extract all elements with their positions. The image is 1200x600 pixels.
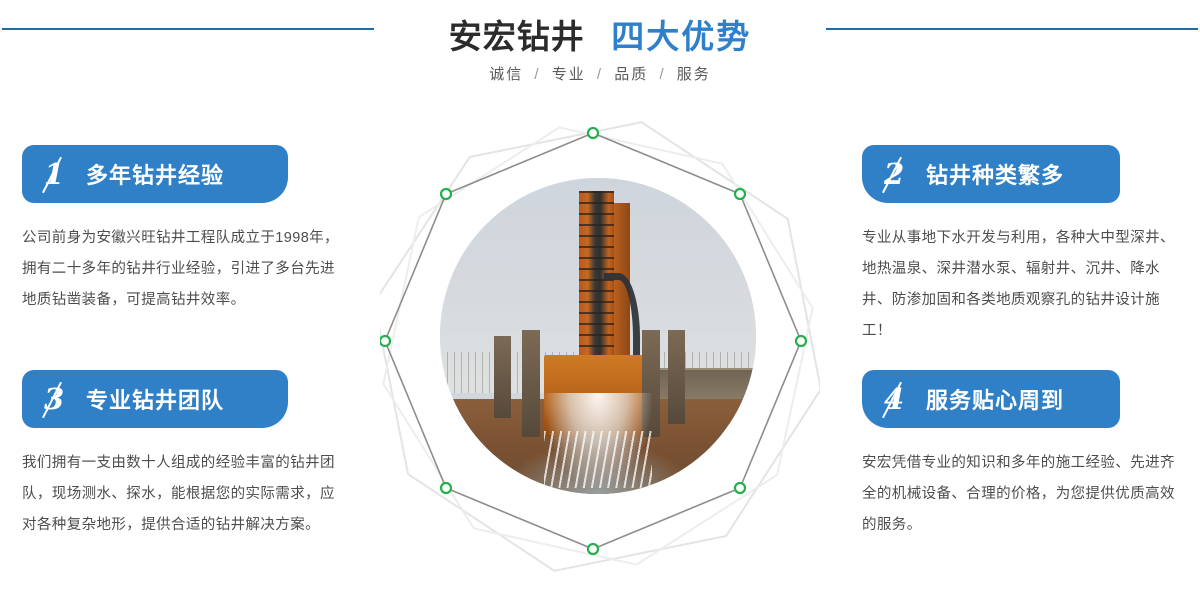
subtitle-item-1: 专业 — [552, 66, 586, 83]
advantage-number-1: 1 — [44, 160, 78, 189]
center-graphic — [380, 110, 820, 590]
photo-water-gush — [544, 393, 651, 488]
advantage-card-2[interactable]: 2 钻井种类繁多 专业从事地下水开发与利用，各种大中型深井、地热温泉、深井潜水泵… — [862, 145, 1192, 347]
ring-node-bottom — [588, 544, 598, 554]
photo-support-leg-4 — [668, 330, 685, 425]
advantage-badge-4[interactable]: 4 服务贴心周到 — [862, 370, 1120, 428]
subtitle-item-3: 服务 — [677, 66, 711, 83]
advantage-body-4: 安宏凭借专业的知识和多年的施工经验、先进齐全的机械设备、合理的价格，为您提供优质… — [862, 448, 1180, 541]
advantage-title-1: 多年钻井经验 — [86, 158, 224, 190]
page-subtitle: 诚信 / 专业 / 品质 / 服务 — [0, 63, 1200, 84]
subtitle-separator-2: / — [659, 66, 665, 83]
page-title-accent: 四大优势 — [611, 18, 751, 55]
ring-node-top — [588, 128, 598, 138]
advantage-card-3[interactable]: 3 专业钻井团队 我们拥有一支由数十人组成的经验丰富的钻井团队，现场测水、探水，… — [22, 370, 352, 541]
advantage-title-4: 服务贴心周到 — [926, 383, 1064, 415]
photo-support-leg-1 — [494, 336, 511, 418]
ring-node-left — [380, 336, 390, 346]
subtitle-separator-0: / — [534, 66, 540, 83]
advantage-number-2: 2 — [884, 160, 918, 189]
ring-node-right — [796, 336, 806, 346]
advantage-title-3: 专业钻井团队 — [86, 383, 224, 415]
advantage-badge-2[interactable]: 2 钻井种类繁多 — [862, 145, 1120, 203]
page-title: 安宏钻井 四大优势 — [0, 10, 1200, 58]
subtitle-separator-1: / — [597, 66, 603, 83]
advantage-card-1[interactable]: 1 多年钻井经验 公司前身为安徽兴旺钻井工程队成立于1998年，拥有二十多年的钻… — [22, 145, 352, 316]
advantage-body-3: 我们拥有一支由数十人组成的经验丰富的钻井团队，现场测水、探水，能根据您的实际需求… — [22, 448, 340, 541]
subtitle-item-2: 品质 — [614, 66, 648, 83]
page-header: 安宏钻井 四大优势 诚信 / 专业 / 品质 / 服务 — [0, 0, 1200, 110]
page-title-main: 安宏钻井 — [449, 18, 585, 55]
advantage-card-4[interactable]: 4 服务贴心周到 安宏凭借专业的知识和多年的施工经验、先进齐全的机械设备、合理的… — [862, 370, 1192, 541]
advantage-badge-3[interactable]: 3 专业钻井团队 — [22, 370, 288, 428]
advantage-title-2: 钻井种类繁多 — [926, 158, 1064, 190]
advantage-number-3: 3 — [44, 385, 78, 414]
subtitle-item-0: 诚信 — [489, 66, 523, 83]
drilling-rig-photo — [440, 178, 756, 494]
advantage-body-2: 专业从事地下水开发与利用，各种大中型深井、地热温泉、深井潜水泵、辐射井、沉井、降… — [862, 223, 1180, 347]
advantage-number-4: 4 — [884, 385, 918, 414]
photo-support-leg-2 — [522, 330, 539, 437]
advantage-badge-1[interactable]: 1 多年钻井经验 — [22, 145, 288, 203]
advantage-body-1: 公司前身为安徽兴旺钻井工程队成立于1998年，拥有二十多年的钻井行业经验，引进了… — [22, 223, 340, 316]
